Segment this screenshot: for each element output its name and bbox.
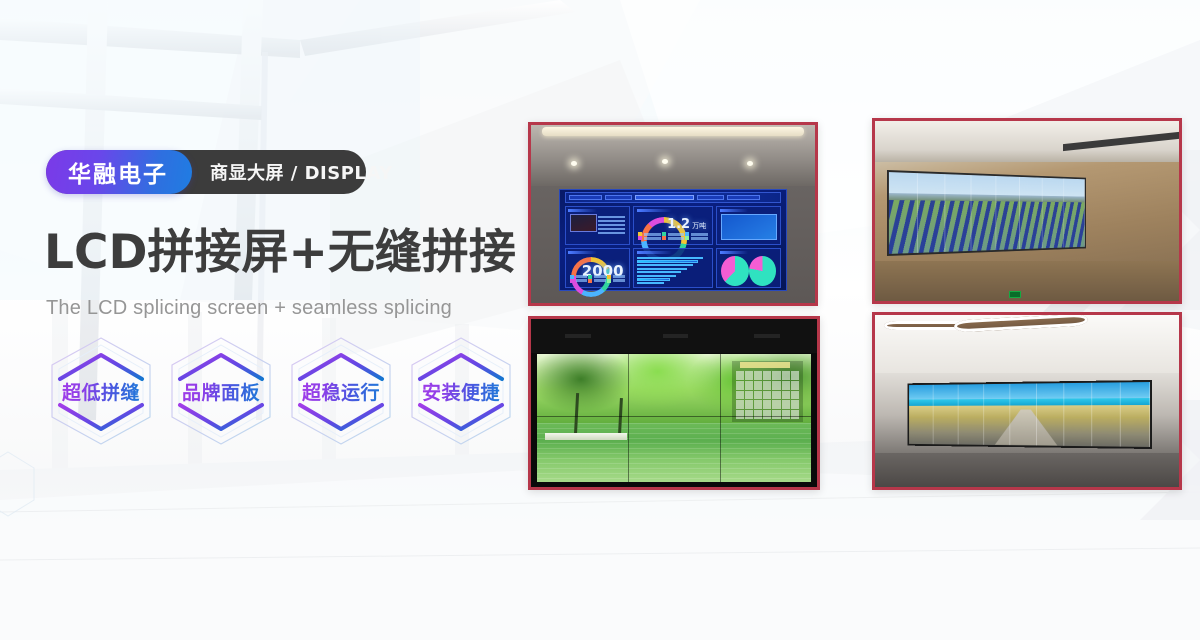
solar-screen [887,170,1086,256]
feature-list: 超低拼缝 品牌面板 超稳运行 [46,335,516,447]
brand-category-chip: 商显大屏 / DISPLAY [192,150,415,194]
photo-dashboard-video-wall[interactable]: 1.2万吨 [528,122,818,306]
feature-badge: 超低拼缝 [46,335,156,447]
feature-label: 超稳运行 [302,378,380,405]
banner-copy: 华融电子 商显大屏 / DISPLAY LCD拼接屏+无缝拼接 The LCD … [0,0,520,640]
feature-badge: 超稳运行 [286,335,396,447]
photo-lake-video-wall[interactable] [528,316,820,490]
photo-solar-farm-video-wall[interactable] [872,118,1182,304]
lake-screen [537,354,812,482]
feature-badge: 品牌面板 [166,335,276,447]
dashboard-metric-1: 1.2万吨 [667,217,706,232]
beach-screen [908,380,1152,449]
feature-label: 品牌面板 [182,378,260,405]
feature-label: 超低拼缝 [62,378,140,405]
product-photo-grid: 1.2万吨 [528,118,1182,494]
brand-pill: 华融电子 商显大屏 / DISPLAY [46,150,415,194]
calendar-overlay [732,361,803,422]
headline: LCD拼接屏+无缝拼接 [44,228,516,278]
product-banner: 华融电子 商显大屏 / DISPLAY LCD拼接屏+无缝拼接 The LCD … [0,0,1200,640]
brand-category: 商显大屏 / DISPLAY [210,159,393,185]
feature-label: 安装便捷 [422,378,500,405]
brand-chip: 华融电子 [46,150,192,194]
feature-badge: 安装便捷 [406,335,516,447]
brand-name: 华融电子 [68,155,168,189]
subheadline: The LCD splicing screen + seamless splic… [46,297,452,320]
photo-beach-video-wall[interactable] [872,312,1182,490]
dashboard-screen: 1.2万吨 [559,189,786,290]
